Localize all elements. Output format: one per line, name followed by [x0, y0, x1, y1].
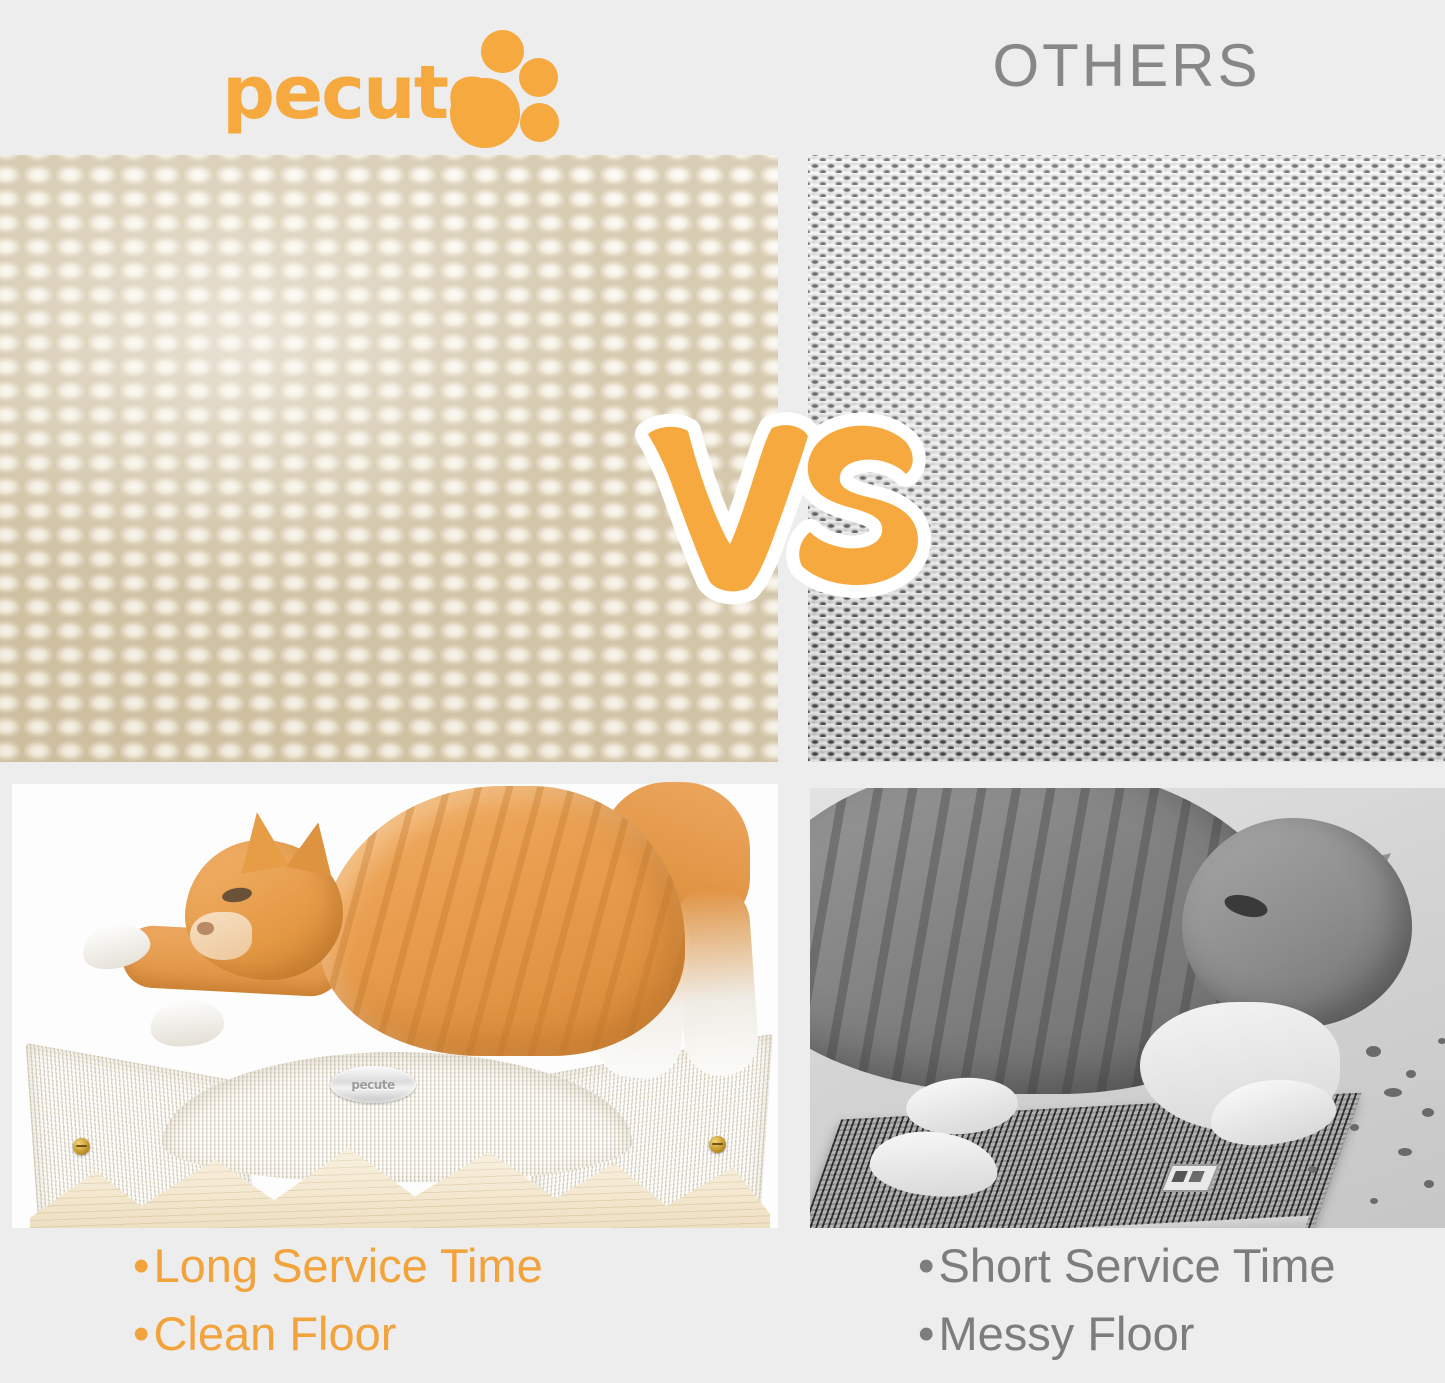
- others-drawbacks-list: •Short Service Time •Messy Floor: [808, 1232, 1445, 1383]
- paw-toe-2: [519, 58, 558, 97]
- ginger-cat-ear-left: [231, 808, 288, 873]
- wood-shading: [30, 1136, 770, 1228]
- ginger-cat-nose: [197, 922, 214, 935]
- drawback-text: Messy Floor: [938, 1307, 1194, 1360]
- list-item: •Messy Floor: [808, 1300, 1445, 1368]
- product-comparison-image: pecute OTHERS: [0, 0, 1445, 1383]
- product-metal-badge-text: pecute: [351, 1078, 394, 1092]
- floor-debris-7: [1424, 1180, 1434, 1188]
- floor-debris-1: [1366, 1046, 1381, 1057]
- pecute-benefits-list: •Long Service Time •Clean Floor: [0, 1232, 778, 1383]
- floor-debris-6: [1398, 1148, 1412, 1156]
- vs-orange-letters: [648, 425, 918, 591]
- paw-print-icon: [450, 30, 572, 150]
- benefit-text: Long Service Time: [153, 1239, 542, 1292]
- bullet-icon: •: [918, 1307, 934, 1360]
- floor-debris-10: [1438, 1038, 1445, 1044]
- list-item: •Clean Floor: [0, 1300, 778, 1368]
- drawback-text: Short Service Time: [938, 1239, 1335, 1292]
- paw-toe-3: [520, 103, 559, 142]
- paw-toe-1: [481, 30, 524, 73]
- paw-pad-main: [450, 78, 520, 148]
- floor-debris-5: [1350, 1124, 1359, 1131]
- brand-logo: pecute: [222, 30, 572, 142]
- floor-debris-9: [1308, 1166, 1317, 1173]
- bullet-icon: •: [133, 1307, 149, 1360]
- floor-debris-8: [1370, 1198, 1378, 1204]
- list-item: •Short Service Time: [808, 1232, 1445, 1300]
- others-title: OTHERS: [808, 36, 1445, 96]
- floor-debris-4: [1422, 1108, 1434, 1117]
- ginger-cat-snout: [190, 912, 252, 960]
- scratcher-screw-right: [709, 1136, 726, 1153]
- product-metal-badge: pecute: [330, 1066, 416, 1103]
- floor-debris-3: [1384, 1088, 1402, 1097]
- vs-badge: VS: [630, 398, 940, 608]
- gray-cat-head: [1182, 818, 1412, 1028]
- benefit-text: Clean Floor: [153, 1307, 396, 1360]
- header-band: pecute OTHERS: [0, 0, 1445, 155]
- scratcher-screw-left: [73, 1138, 90, 1155]
- others-product-photo: [810, 788, 1445, 1228]
- list-item: •Long Service Time: [0, 1232, 778, 1300]
- scratcher-wooden-base: [30, 1136, 770, 1228]
- floor-debris-2: [1406, 1070, 1416, 1078]
- bullet-icon: •: [918, 1239, 934, 1292]
- bullet-icon: •: [133, 1239, 149, 1292]
